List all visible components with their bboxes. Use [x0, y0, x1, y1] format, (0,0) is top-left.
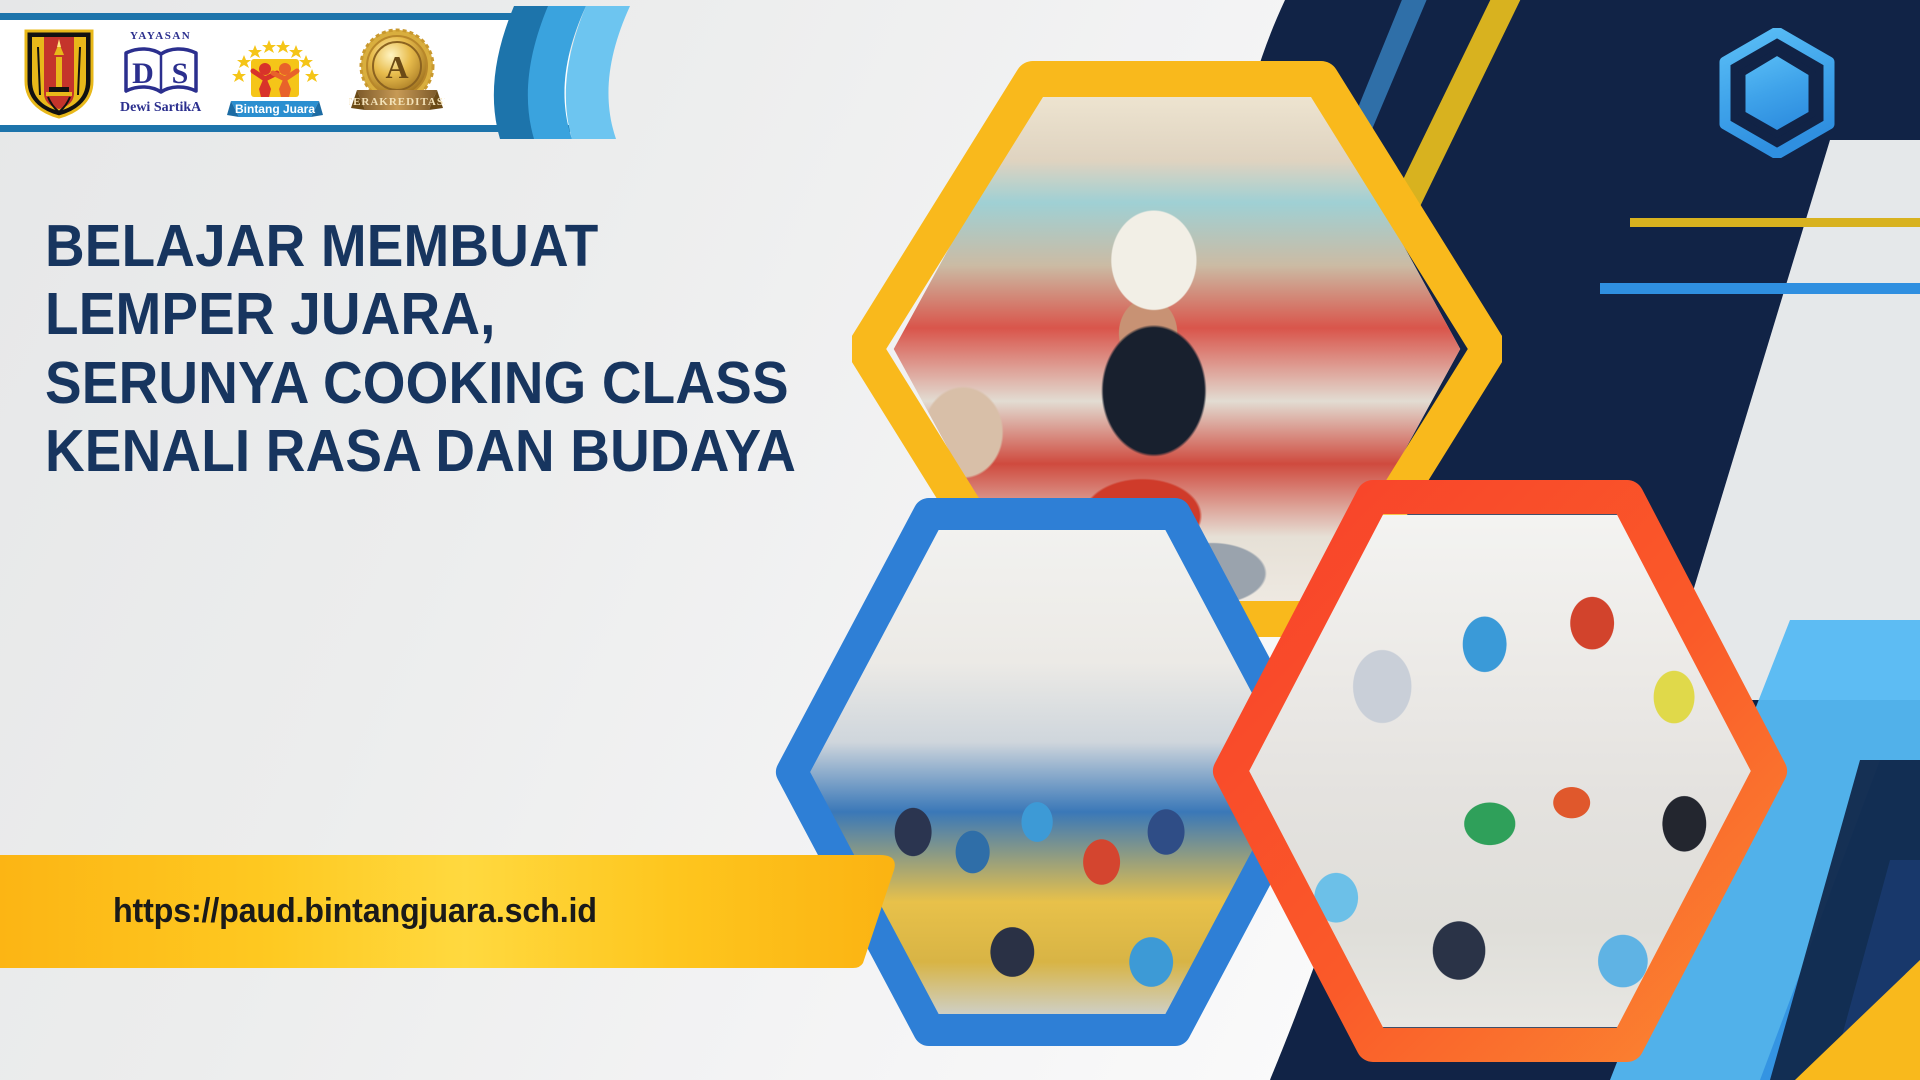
- poster-canvas: YAYASAN D S Dewi SartikA: [0, 0, 1920, 1080]
- headline-line-3: SERUNYA COOKING CLASS: [45, 349, 882, 417]
- svg-text:Bintang Juara: Bintang Juara: [235, 102, 315, 116]
- headline-line-1: BELAJAR MEMBUAT: [45, 212, 882, 280]
- bintang-juara-logo: Bintang Juara: [225, 25, 325, 121]
- photo-card-children-on-floor: [1210, 475, 1790, 1067]
- akreditasi-a-badge-icon: A TERAKREDITASI: [349, 26, 445, 120]
- svg-text:A: A: [386, 49, 409, 85]
- logo-strip: YAYASAN D S Dewi SartikA: [22, 20, 445, 125]
- yayasan-top-text: YAYASAN: [130, 31, 191, 42]
- svg-text:S: S: [171, 57, 188, 90]
- website-url[interactable]: https://paud.bintangjuara.sch.id: [113, 855, 597, 968]
- kota-semarang-seal: [22, 27, 96, 119]
- open-book-icon: D S: [122, 43, 200, 99]
- headline-line-4: KENALI RASA DAN BUDAYA: [45, 417, 882, 485]
- akreditasi-a-badge: A TERAKREDITASI: [349, 26, 445, 120]
- bintang-juara-icon: Bintang Juara: [225, 25, 325, 121]
- blue-swoosh-decoration: [440, 6, 630, 139]
- svg-text:TERAKREDITASI: TERAKREDITASI: [349, 96, 445, 108]
- svg-text:D: D: [132, 57, 154, 90]
- yayasan-dewi-sartika-logo: YAYASAN D S Dewi SartikA: [120, 31, 201, 115]
- page-title: BELAJAR MEMBUAT LEMPER JUARA, SERUNYA CO…: [45, 212, 882, 486]
- yayasan-caption: Dewi SartikA: [120, 101, 201, 115]
- headline-line-2: LEMPER JUARA,: [45, 280, 882, 348]
- kota-semarang-seal-icon: [22, 27, 96, 119]
- hexagon-outline-icon: [1717, 28, 1837, 158]
- hex-frame-red: [1210, 475, 1790, 1067]
